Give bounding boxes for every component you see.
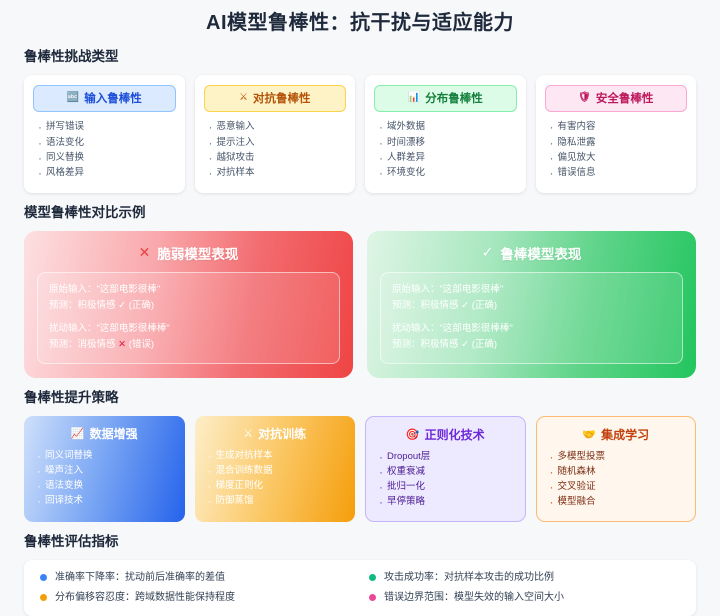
list-item: 越狱攻击	[208, 150, 347, 165]
spacer	[392, 314, 671, 321]
list-item: 恶意输入	[208, 119, 347, 134]
comparison-card-title-row: ✓ 鲁棒模型表现	[380, 243, 683, 263]
comparison-detail-box: 原始输入："这部电影很棒" 预测：积极情感 ✓ (正确) 扰动输入："这部电影很…	[380, 272, 683, 364]
abc-input-icon: 🔤	[67, 93, 79, 103]
list-item: 权重衰减	[378, 464, 515, 479]
page-title: AI模型鲁棒性：抗干扰与适应能力	[24, 0, 696, 35]
original-input-line: 原始输入："这部电影很棒"	[392, 282, 671, 298]
strategy-item-list: Dropout层 权重衰减 批归一化 早停策略	[376, 449, 515, 510]
challenge-badge-distribution: 📊 分布鲁棒性	[374, 85, 517, 112]
challenge-badge-safety: 🛡 安全鲁棒性	[545, 85, 688, 112]
strategy-card-title: 对抗训练	[258, 425, 306, 442]
strategies-heading: 鲁棒性提升策略	[24, 390, 696, 406]
bar-chart-icon: 📊	[408, 93, 420, 103]
list-item: 混合训练数据	[207, 463, 346, 478]
challenge-badge-label: 输入鲁棒性	[84, 90, 142, 106]
target-icon: 🎯	[406, 428, 420, 441]
strategy-item-list: 多模型投票 随机森林 交叉验证 模型融合	[547, 449, 686, 510]
prediction-prefix: 预测：积极情感	[392, 339, 461, 350]
comparison-card-robust: ✓ 鲁棒模型表现 原始输入："这部电影很棒" 预测：积极情感 ✓ (正确) 扰动…	[367, 231, 696, 378]
list-item: 噪声注入	[36, 463, 175, 478]
original-input-line: 原始输入："这部电影很棒"	[49, 282, 328, 298]
list-item: 生成对抗样本	[207, 448, 346, 463]
list-item: 批归一化	[378, 479, 515, 494]
status-dot-green	[369, 574, 376, 581]
prediction-suffix: (正确)	[469, 300, 497, 311]
list-item: 偏见放大	[549, 150, 688, 165]
prediction-prefix: 预测：积极情感	[49, 300, 118, 311]
challenge-badge-label: 分布鲁棒性	[425, 90, 483, 106]
challenges-heading: 鲁棒性挑战类型	[24, 49, 696, 65]
check-mark-icon: ✓	[461, 300, 469, 311]
strategy-card-title-row: 📈 数据增强	[34, 425, 175, 442]
challenge-badge-label: 安全鲁棒性	[596, 90, 654, 106]
crossed-swords-icon: ⚔	[243, 427, 253, 440]
challenge-item-list: 有害内容 隐私泄露 偏见放大 错误信息	[545, 119, 688, 181]
prediction-suffix: (错误)	[126, 339, 154, 350]
list-item: 模型融合	[549, 494, 686, 509]
strategy-card-data-augmentation[interactable]: 📈 数据增强 同义词替换 噪声注入 语法变换 回译技术	[24, 416, 185, 522]
list-item: 对抗样本	[208, 165, 347, 180]
challenge-card-distribution[interactable]: 📊 分布鲁棒性 域外数据 时间漂移 人群差异 环境变化	[365, 75, 526, 193]
strategy-card-title: 正则化技术	[425, 426, 485, 443]
metrics-section: 鲁棒性评估指标 准确率下降率：扰动前后准确率的差值 攻击成功率：对抗样本攻击的成…	[24, 534, 696, 616]
status-dot-orange	[40, 594, 47, 601]
check-mark-icon: ✓	[118, 300, 126, 311]
list-item: 同义词替换	[36, 448, 175, 463]
strategy-card-grid: 📈 数据增强 同义词替换 噪声注入 语法变换 回译技术 ⚔ 对抗训练 生成对抗样…	[24, 416, 696, 522]
list-item: Dropout层	[378, 449, 515, 464]
original-prediction-line: 预测：积极情感 ✓ (正确)	[49, 298, 328, 314]
strategy-card-title: 数据增强	[90, 425, 138, 442]
comparison-card-title-row: ✕ 脆弱模型表现	[37, 243, 340, 263]
strategy-card-title-row: ⚔ 对抗训练	[205, 425, 346, 442]
handshake-icon: 🤝	[582, 428, 596, 441]
strategy-item-list: 生成对抗样本 混合训练数据 梯度正则化 防御蒸馏	[205, 448, 346, 509]
comparison-card-title: 脆弱模型表现	[157, 243, 238, 263]
list-item: 语法变化	[37, 135, 176, 150]
status-dot-blue	[40, 574, 47, 581]
cross-mark-icon: ✕	[139, 244, 151, 261]
metrics-card: 准确率下降率：扰动前后准确率的差值 攻击成功率：对抗样本攻击的成功比例 分布偏移…	[24, 560, 696, 616]
list-item: 语法变换	[36, 478, 175, 493]
comparison-section: 模型鲁棒性对比示例 ✕ 脆弱模型表现 原始输入："这部电影很棒" 预测：积极情感…	[24, 205, 696, 378]
challenge-item-list: 域外数据 时间漂移 人群差异 环境变化	[374, 119, 517, 181]
trend-chart-icon: 📈	[71, 427, 85, 440]
list-item: 回译技术	[36, 493, 175, 508]
list-item: 多模型投票	[549, 449, 686, 464]
list-item: 风格差异	[37, 165, 176, 180]
perturbed-input-line: 扰动输入："这部电影很棒棒"	[392, 321, 671, 337]
challenge-card-safety[interactable]: 🛡 安全鲁棒性 有害内容 隐私泄露 偏见放大 错误信息	[536, 75, 697, 193]
list-item: 有害内容	[549, 119, 688, 134]
check-mark-icon: ✓	[482, 244, 494, 261]
strategies-section: 鲁棒性提升策略 📈 数据增强 同义词替换 噪声注入 语法变换 回译技术 ⚔ 对抗…	[24, 390, 696, 522]
challenge-badge-input: 🔤 输入鲁棒性	[33, 85, 176, 112]
check-mark-icon: ✓	[461, 339, 469, 350]
challenges-section: 鲁棒性挑战类型 🔤 输入鲁棒性 拼写错误 语法变化 同义替换 风格差异 ⚔ 对抗…	[24, 49, 696, 193]
comparison-card-fragile: ✕ 脆弱模型表现 原始输入："这部电影很棒" 预测：积极情感 ✓ (正确) 扰动…	[24, 231, 353, 378]
metric-text: 分布偏移容忍度：跨域数据性能保持程度	[55, 591, 235, 604]
crossed-swords-icon: ⚔	[239, 93, 248, 103]
list-item: 域外数据	[378, 119, 517, 134]
list-item: 交叉验证	[549, 479, 686, 494]
infographic-page: AI模型鲁棒性：抗干扰与适应能力 鲁棒性挑战类型 🔤 输入鲁棒性 拼写错误 语法…	[0, 0, 720, 573]
list-item: 同义替换	[37, 150, 176, 165]
list-item: 防御蒸馏	[207, 493, 346, 508]
list-item: 随机森林	[549, 464, 686, 479]
comparison-detail-box: 原始输入："这部电影很棒" 预测：积极情感 ✓ (正确) 扰动输入："这部电影很…	[37, 272, 340, 364]
list-item: 隐私泄露	[549, 135, 688, 150]
strategy-item-list: 同义词替换 噪声注入 语法变换 回译技术	[34, 448, 175, 509]
prediction-suffix: (正确)	[126, 300, 154, 311]
cross-mark-icon: ✕	[118, 339, 126, 350]
prediction-prefix: 预测：消极情感	[49, 339, 118, 350]
comparison-card-title: 鲁棒模型表现	[500, 243, 581, 263]
prediction-prefix: 预测：积极情感	[392, 300, 461, 311]
shield-icon: 🛡	[578, 93, 591, 103]
list-item: 错误信息	[549, 165, 688, 180]
strategy-card-title-row: 🤝 集成学习	[547, 426, 686, 443]
challenge-badge-label: 对抗鲁棒性	[253, 90, 311, 106]
metric-item-distribution-shift: 分布偏移容忍度：跨域数据性能保持程度	[40, 591, 351, 604]
list-item: 提示注入	[208, 135, 347, 150]
metric-text: 错误边界范围：模型失效的输入空间大小	[384, 591, 564, 604]
perturbed-input-line: 扰动输入："这部电影很棒棒"	[49, 321, 328, 337]
prediction-suffix: (正确)	[469, 339, 497, 350]
list-item: 环境变化	[378, 165, 517, 180]
comparison-card-grid: ✕ 脆弱模型表现 原始输入："这部电影很棒" 预测：积极情感 ✓ (正确) 扰动…	[24, 231, 696, 378]
metrics-heading: 鲁棒性评估指标	[24, 534, 696, 550]
challenge-card-grid: 🔤 输入鲁棒性 拼写错误 语法变化 同义替换 风格差异 ⚔ 对抗鲁棒性 恶意输入	[24, 75, 696, 193]
strategy-card-title-row: 🎯 正则化技术	[376, 426, 515, 443]
list-item: 拼写错误	[37, 119, 176, 134]
list-item: 时间漂移	[378, 135, 517, 150]
original-prediction-line: 预测：积极情感 ✓ (正确)	[392, 298, 671, 314]
strategy-card-title: 集成学习	[601, 426, 649, 443]
comparison-heading: 模型鲁棒性对比示例	[24, 205, 696, 221]
strategy-card-regularization[interactable]: 🎯 正则化技术 Dropout层 权重衰减 批归一化 早停策略	[365, 416, 526, 522]
challenge-item-list: 恶意输入 提示注入 越狱攻击 对抗样本	[204, 119, 347, 181]
strategy-card-ensemble-learning[interactable]: 🤝 集成学习 多模型投票 随机森林 交叉验证 模型融合	[536, 416, 697, 522]
perturbed-prediction-line: 预测：积极情感 ✓ (正确)	[392, 337, 671, 353]
status-dot-pink	[369, 594, 376, 601]
challenge-item-list: 拼写错误 语法变化 同义替换 风格差异	[33, 119, 176, 181]
list-item: 人群差异	[378, 150, 517, 165]
list-item: 梯度正则化	[207, 478, 346, 493]
metric-item-error-boundary: 错误边界范围：模型失效的输入空间大小	[369, 591, 680, 604]
perturbed-prediction-line: 预测：消极情感 ✕ (错误)	[49, 337, 328, 353]
challenge-card-input[interactable]: 🔤 输入鲁棒性 拼写错误 语法变化 同义替换 风格差异	[24, 75, 185, 193]
challenge-badge-adversarial: ⚔ 对抗鲁棒性	[204, 85, 347, 112]
challenge-card-adversarial[interactable]: ⚔ 对抗鲁棒性 恶意输入 提示注入 越狱攻击 对抗样本	[195, 75, 356, 193]
strategy-card-adversarial-training[interactable]: ⚔ 对抗训练 生成对抗样本 混合训练数据 梯度正则化 防御蒸馏	[195, 416, 356, 522]
spacer	[49, 314, 328, 321]
list-item: 早停策略	[378, 494, 515, 509]
